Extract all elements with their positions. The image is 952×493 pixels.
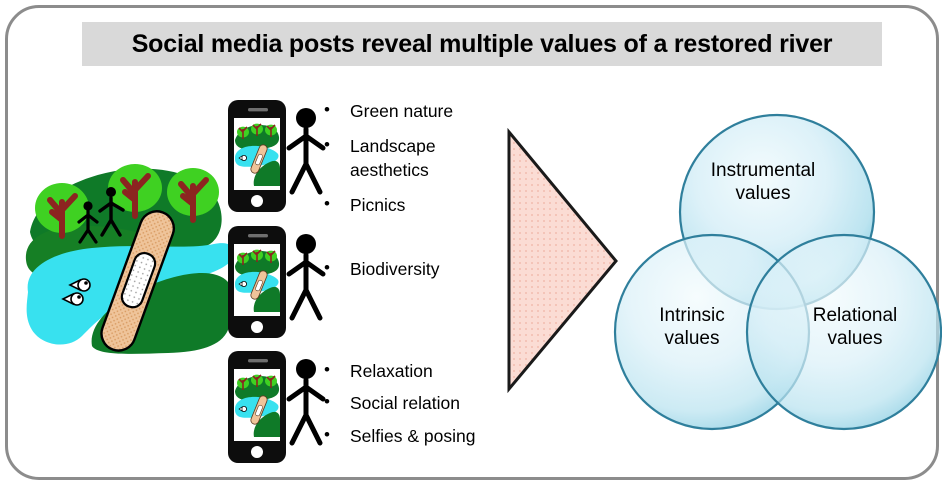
social-post-3 bbox=[226, 347, 326, 467]
list-item: Picnics bbox=[320, 194, 500, 217]
list-item: Social relation bbox=[320, 392, 520, 415]
bullet-group-3: Relaxation Social relation Selfies & pos… bbox=[320, 360, 520, 457]
title-banner: Social media posts reveal multiple value… bbox=[82, 22, 882, 66]
venn-circle-relational bbox=[747, 235, 941, 429]
social-post-2 bbox=[226, 222, 326, 342]
page-title: Social media posts reveal multiple value… bbox=[132, 30, 833, 59]
venn-diagram bbox=[612, 112, 942, 452]
stick-figure-icon bbox=[289, 359, 323, 443]
stick-figure-icon bbox=[289, 234, 323, 318]
bullet-group-2: Biodiversity bbox=[320, 258, 500, 293]
list-item: Selfies & posing bbox=[320, 425, 520, 448]
graphical-abstract: Social media posts reveal multiple value… bbox=[0, 0, 952, 493]
smartphone-icon bbox=[228, 100, 286, 212]
bullet-group-1: Green nature Landscape aesthetics Picnic… bbox=[320, 100, 500, 230]
smartphone-icon bbox=[228, 226, 286, 338]
right-triangle-arrow bbox=[505, 128, 620, 393]
restored-river-illustration bbox=[18, 140, 248, 370]
list-item: Relaxation bbox=[320, 360, 520, 383]
list-item: Landscape aesthetics bbox=[320, 135, 500, 182]
list-item: Green nature bbox=[320, 100, 500, 123]
list-item: Biodiversity bbox=[320, 258, 500, 281]
smartphone-icon bbox=[228, 351, 286, 463]
stick-figure-icon bbox=[289, 108, 323, 192]
social-post-1 bbox=[226, 96, 326, 216]
